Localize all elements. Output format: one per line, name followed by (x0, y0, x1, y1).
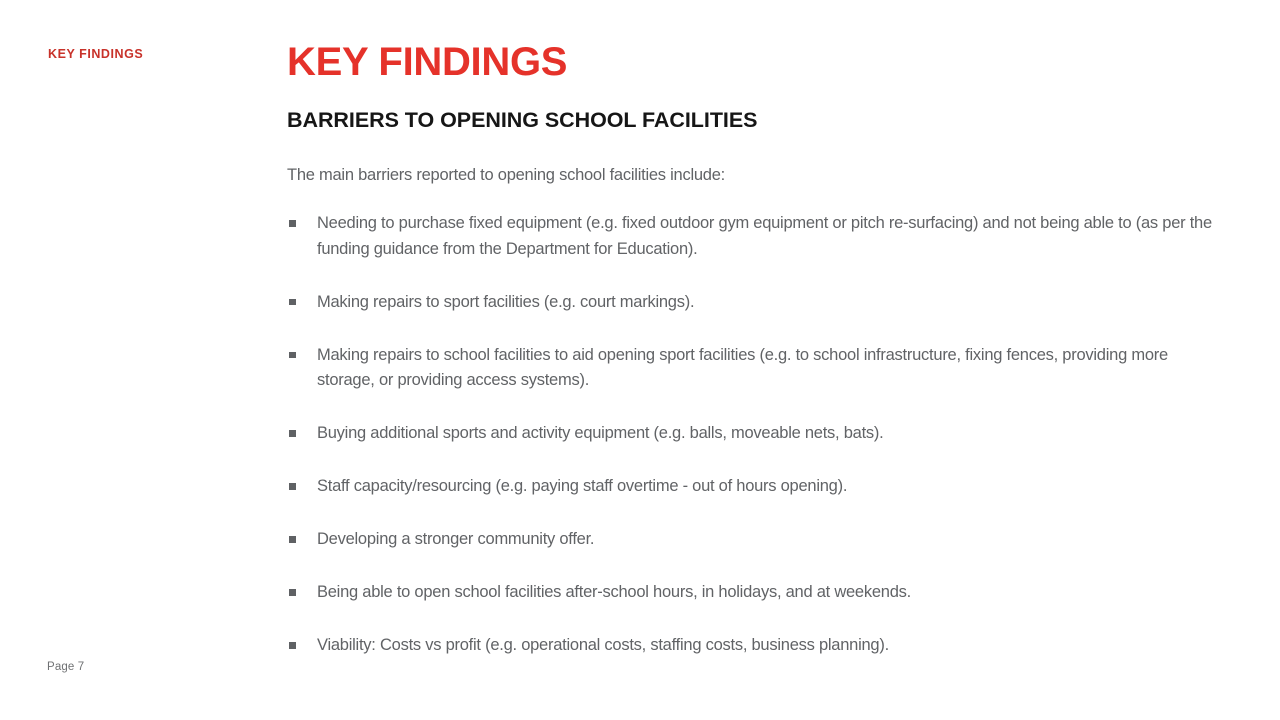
square-bullet-icon (289, 352, 296, 359)
list-item-text: Making repairs to sport facilities (e.g.… (317, 290, 1227, 316)
square-bullet-icon (289, 220, 296, 227)
sidebar: KEY FINDINGS Page 7 (0, 0, 287, 720)
square-bullet-icon (289, 642, 296, 649)
list-item: Developing a stronger community offer. (287, 527, 1227, 553)
main-content: KEY FINDINGS BARRIERS TO OPENING SCHOOL … (287, 0, 1280, 720)
square-bullet-icon (289, 589, 296, 596)
square-bullet-icon (289, 483, 296, 490)
slide-canvas: KEY FINDINGS Page 7 KEY FINDINGS BARRIER… (0, 0, 1280, 720)
list-item: Needing to purchase fixed equipment (e.g… (287, 211, 1227, 262)
list-item-text: Making repairs to school facilities to a… (317, 343, 1227, 394)
list-item-text: Staff capacity/resourcing (e.g. paying s… (317, 474, 1227, 500)
list-item: Being able to open school facilities aft… (287, 580, 1227, 606)
square-bullet-icon (289, 536, 296, 543)
list-item-text: Buying additional sports and activity eq… (317, 421, 1227, 447)
barriers-bullet-list: Needing to purchase fixed equipment (e.g… (287, 211, 1227, 659)
list-item-text: Needing to purchase fixed equipment (e.g… (317, 211, 1227, 262)
list-item: Buying additional sports and activity eq… (287, 421, 1227, 447)
sidebar-section-label: KEY FINDINGS (48, 46, 143, 62)
list-item-text: Developing a stronger community offer. (317, 527, 1227, 553)
square-bullet-icon (289, 299, 296, 306)
list-item: Making repairs to sport facilities (e.g.… (287, 290, 1227, 316)
list-item: Making repairs to school facilities to a… (287, 343, 1227, 394)
list-item: Viability: Costs vs profit (e.g. operati… (287, 633, 1227, 659)
slide-subtitle: BARRIERS TO OPENING SCHOOL FACILITIES (287, 106, 757, 134)
list-item: Staff capacity/resourcing (e.g. paying s… (287, 474, 1227, 500)
intro-paragraph: The main barriers reported to opening sc… (287, 163, 1227, 187)
page-title: KEY FINDINGS (287, 38, 567, 86)
square-bullet-icon (289, 430, 296, 437)
list-item-text: Being able to open school facilities aft… (317, 580, 1227, 606)
list-item-text: Viability: Costs vs profit (e.g. operati… (317, 633, 1227, 659)
page-number: Page 7 (47, 660, 84, 675)
